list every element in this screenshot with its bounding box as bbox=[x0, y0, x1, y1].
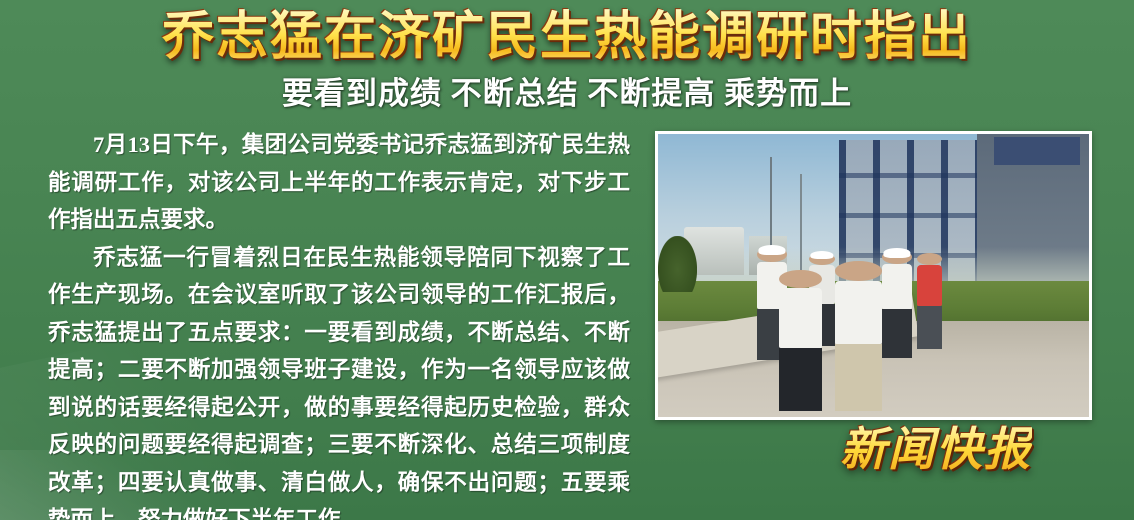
photo-person-torso bbox=[835, 281, 882, 344]
article-body: 7月13日下午，集团公司党委书记乔志猛到济矿民生热能调研工作，对该公司上半年的工… bbox=[48, 126, 630, 520]
helmet-icon bbox=[810, 251, 833, 259]
article-paragraph-2: 乔志猛一行冒着烈日在民生热能领导陪同下视察了工作生产现场。在会议室听取了该公司领… bbox=[48, 239, 630, 520]
news-stamp: 新闻快报 bbox=[840, 424, 1032, 476]
photo-person-foreground-1 bbox=[779, 270, 822, 412]
photo-person-head bbox=[835, 261, 882, 280]
photo-pole-secondary bbox=[800, 174, 802, 282]
photo-scene bbox=[658, 134, 1089, 417]
news-photo bbox=[655, 131, 1092, 420]
subheadline: 要看到成绩 不断总结 不断提高 乘势而上 bbox=[0, 74, 1134, 114]
photo-person-background-4 bbox=[917, 253, 943, 349]
photo-person-legs bbox=[882, 309, 912, 357]
photo-person-legs bbox=[835, 344, 882, 411]
photo-tree bbox=[658, 236, 697, 293]
helmet-icon bbox=[759, 245, 786, 255]
headline-container: 乔志猛在济矿民生热能调研时指出 bbox=[0, 8, 1134, 68]
page-title: 乔志猛在济矿民生热能调研时指出 bbox=[162, 8, 972, 68]
news-poster: 乔志猛在济矿民生热能调研时指出 要看到成绩 不断总结 不断提高 乘势而上 7月1… bbox=[0, 0, 1134, 520]
photo-pipe bbox=[994, 137, 1080, 165]
photo-person-head bbox=[779, 270, 822, 288]
photo-person-head bbox=[917, 253, 943, 266]
helmet-icon bbox=[884, 248, 911, 258]
article-paragraph-1: 7月13日下午，集团公司党委书记乔志猛到济矿民生热能调研工作，对该公司上半年的工… bbox=[48, 126, 630, 239]
photo-person-legs bbox=[917, 306, 943, 349]
photo-person-torso bbox=[779, 288, 822, 347]
photo-person-foreground-2 bbox=[835, 261, 882, 411]
photo-person-torso bbox=[917, 265, 943, 305]
photo-person-torso bbox=[882, 264, 912, 309]
photo-person-background-3 bbox=[882, 250, 912, 358]
photo-person-legs bbox=[779, 348, 822, 412]
